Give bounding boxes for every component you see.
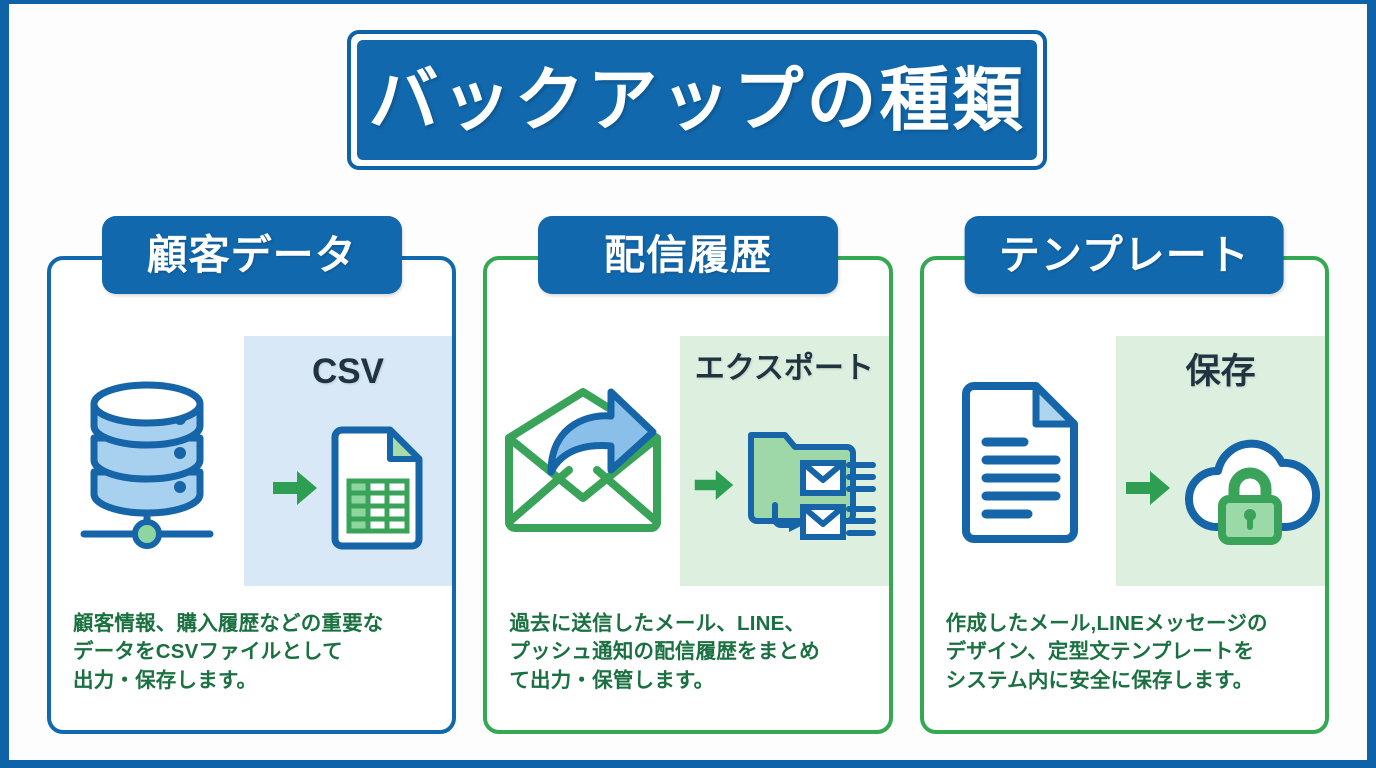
card-header-label: 配信履歴 <box>604 235 772 276</box>
card-delivery-history[interactable]: 配信履歴 エクスポート <box>483 256 892 734</box>
mail-item <box>803 507 873 537</box>
card-header-customer-data: 顧客データ <box>102 216 402 294</box>
panel-row <box>1116 389 1325 586</box>
card-description: 作成したメール,LINEメッセージの デザイン、定型文テンプレートを システム内… <box>946 610 1311 695</box>
card-description: 過去に送信したメール、LINE、 プッシュ通知の配信履歴をまとめ て出力・保管し… <box>509 610 874 695</box>
document-icon <box>960 384 1080 539</box>
csv-file-icon <box>329 429 425 547</box>
arrow-right-icon <box>271 468 319 508</box>
card-header-label: テンプレート <box>999 235 1250 276</box>
panel-row <box>244 389 453 586</box>
panel-label: CSV <box>312 354 384 389</box>
result-panel: 保存 <box>1116 336 1325 586</box>
source-icon-slot <box>51 336 244 586</box>
page-frame: バックアップの種類 顧客データ <box>0 0 1376 768</box>
card-customer-data[interactable]: 顧客データ <box>47 256 456 734</box>
card-body: エクスポート <box>487 336 888 586</box>
source-icon-slot <box>924 336 1117 586</box>
title-text: バックアップの種類 <box>369 65 1026 135</box>
card-template[interactable]: テンプレート <box>920 256 1329 734</box>
panel-label: エクスポート <box>695 354 874 384</box>
card-list: 顧客データ <box>47 256 1329 734</box>
panel-label: 保存 <box>1186 354 1256 389</box>
mail-item <box>803 463 873 493</box>
title-outer-border: バックアップの種類 <box>347 30 1047 170</box>
card-body: 保存 <box>924 336 1325 586</box>
title-inner-plate: バックアップの種類 <box>357 40 1037 160</box>
database-icon <box>72 374 222 549</box>
arrow-right-icon <box>1124 468 1172 508</box>
card-description: 顧客情報、購入履歴などの重要な データをCSVファイルとして 出力・保存します。 <box>73 610 438 695</box>
arrow-right-icon <box>693 467 735 503</box>
canvas: バックアップの種類 顧客データ <box>9 4 1367 760</box>
source-icon-slot <box>487 336 680 586</box>
result-panel: エクスポート <box>680 336 889 586</box>
panel-row <box>680 384 889 586</box>
card-header-delivery-history: 配信履歴 <box>538 216 838 294</box>
card-body: CSV <box>51 336 452 586</box>
card-header-label: 顧客データ <box>147 235 357 276</box>
card-header-template: テンプレート <box>965 216 1284 294</box>
cloud-lock-icon <box>1182 433 1318 543</box>
result-panel: CSV <box>244 336 453 586</box>
envelope-share-icon <box>501 386 666 536</box>
folder-mail-export-icon <box>745 425 875 545</box>
page-title: バックアップの種類 <box>347 30 1047 170</box>
